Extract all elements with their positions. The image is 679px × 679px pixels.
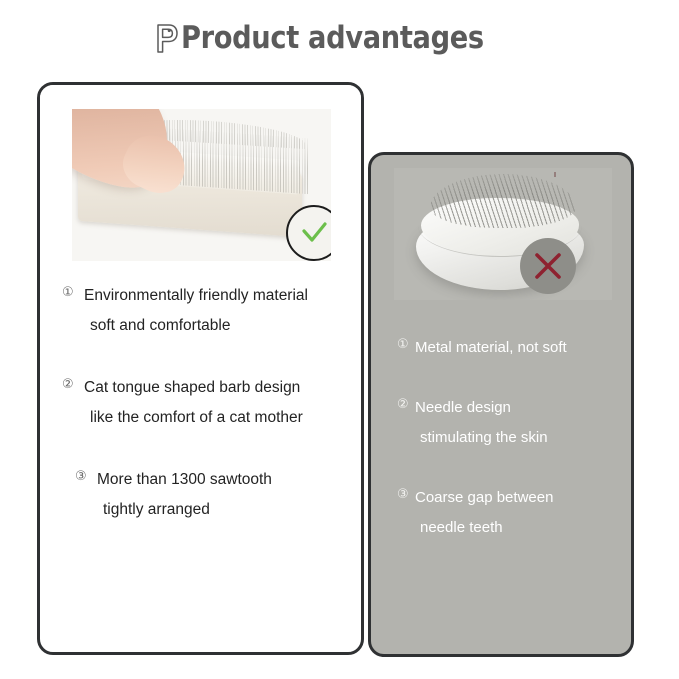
list-marker: ② [397, 393, 415, 416]
list-marker: ③ [75, 465, 97, 488]
list-item-line: like the comfort of a cat mother [84, 409, 303, 426]
check-badge [286, 205, 331, 261]
silicone-brush-advantage-card: ① Environmentally friendly material soft… [37, 82, 364, 655]
list-item-line: Cat tongue shaped barb design [84, 379, 300, 396]
list-marker: ① [397, 333, 415, 356]
stray-pin-mark [554, 172, 556, 177]
list-marker: ② [62, 373, 84, 396]
metal-needle-brush-drawback-card: ① Metal material, not soft ② Needle desi… [368, 152, 634, 657]
outlined-p-logo-icon [154, 21, 180, 55]
list-marker: ③ [397, 483, 415, 506]
drawback-list: ① Metal material, not soft ② Needle desi… [371, 333, 631, 543]
list-item-line: Needle design [415, 399, 511, 416]
metal-pins-texture [430, 174, 576, 228]
list-item-line: Coarse gap between [415, 489, 553, 506]
list-item: ③ More than 1300 sawtooth tightly arrang… [62, 465, 347, 525]
silicone-brush-photo [40, 85, 361, 267]
list-item: ① Environmentally friendly material soft… [62, 281, 347, 341]
cross-badge [520, 238, 576, 294]
list-item-line: soft and comfortable [84, 317, 230, 334]
advantage-list: ① Environmentally friendly material soft… [40, 281, 361, 525]
list-item: ② Needle design stimulating the skin [397, 393, 621, 453]
list-item-line: stimulating the skin [415, 429, 548, 446]
list-marker: ① [62, 281, 84, 304]
list-item: ② Cat tongue shaped barb design like the… [62, 373, 347, 433]
check-icon [297, 216, 331, 250]
photo-frame [72, 109, 331, 261]
page-title: Product advantages [0, 14, 679, 62]
list-item-line: tightly arranged [97, 501, 210, 518]
list-item-line: Metal material, not soft [415, 339, 567, 356]
cross-icon [531, 249, 565, 283]
list-item: ① Metal material, not soft [397, 333, 621, 363]
list-item-line: Environmentally friendly material [84, 287, 308, 304]
list-item: ③ Coarse gap between needle teeth [397, 483, 621, 543]
metal-brush-photo [394, 168, 612, 300]
list-item-line: needle teeth [415, 519, 503, 536]
list-item-line: More than 1300 sawtooth [97, 471, 272, 488]
page-title-text: Product advantages [181, 23, 484, 54]
